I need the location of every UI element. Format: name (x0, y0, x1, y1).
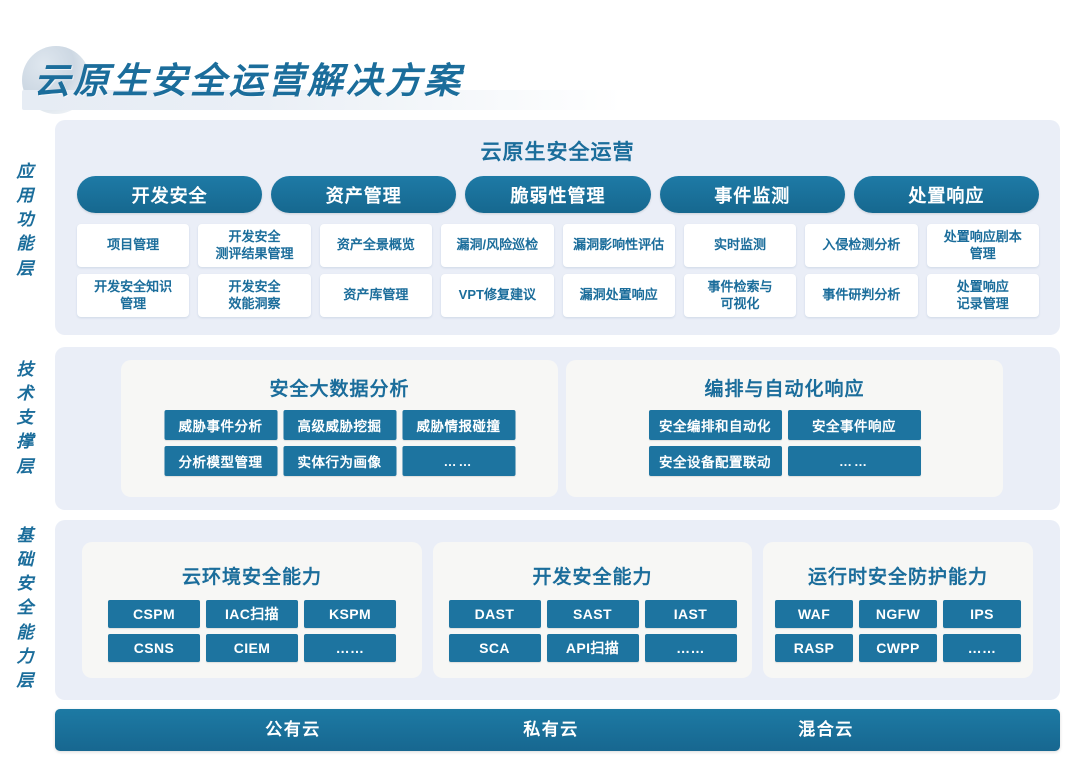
layer-label-char: 层 (8, 455, 42, 479)
application-card[interactable]: 漏洞/风险巡检 (441, 224, 553, 267)
technical-panel-orchestration: 编排与自动化响应 安全编排和自动化安全事件响应安全设备配置联动…… (566, 360, 1003, 497)
application-card[interactable]: 资产全景概览 (320, 224, 432, 267)
technical-chip-row: 安全设备配置联动…… (649, 446, 921, 476)
application-card-row: 项目管理开发安全测评结果管理资产全景概览漏洞/风险巡检漏洞影响性评估实时监测入侵… (77, 224, 1039, 267)
foundation-chip-row: RASPCWPP…… (775, 634, 1021, 662)
technical-chip-grid: 威胁事件分析高级威胁挖掘威胁情报碰撞分析模型管理实体行为画像…… (164, 410, 515, 482)
foundation-chip[interactable]: RASP (775, 634, 853, 662)
application-card[interactable]: 入侵检测分析 (805, 224, 917, 267)
foundation-chip-grid: WAFNGFWIPSRASPCWPP…… (775, 600, 1021, 668)
layer-label-char: 全 (8, 596, 42, 620)
foundation-chip[interactable]: DAST (449, 600, 541, 628)
technical-panel-heading: 编排与自动化响应 (566, 374, 1003, 401)
technical-chip[interactable]: 分析模型管理 (164, 446, 277, 476)
foundation-panel-dev-security: 开发安全能力 DASTSASTIASTSCAAPI扫描…… (433, 542, 752, 678)
foundation-chip-more[interactable]: …… (304, 634, 396, 662)
foundation-chip-row: DASTSASTIAST (449, 600, 737, 628)
layer-label-char: 技 (8, 358, 42, 382)
layer-label-application: 应用功能层 (8, 160, 42, 281)
layer-label-char: 应 (8, 160, 42, 184)
technical-chip[interactable]: 实体行为画像 (283, 446, 396, 476)
foundation-chip[interactable]: CIEM (206, 634, 298, 662)
foundation-chip[interactable]: CSNS (108, 634, 200, 662)
application-card[interactable]: 开发安全效能洞察 (198, 274, 310, 317)
application-card[interactable]: 开发安全测评结果管理 (198, 224, 310, 267)
technical-chip[interactable]: 安全设备配置联动 (649, 446, 782, 476)
application-card-row: 开发安全知识管理开发安全效能洞察资产库管理VPT修复建议漏洞处置响应事件检索与可… (77, 274, 1039, 317)
layer-label-foundation: 基础安全能力层 (8, 524, 42, 693)
technical-chip-row: 威胁事件分析高级威胁挖掘威胁情报碰撞 (164, 410, 515, 440)
foundation-panel-heading: 运行时安全防护能力 (763, 562, 1033, 589)
application-function-layer: 云原生安全运营 开发安全资产管理脆弱性管理事件监测处置响应 项目管理开发安全测评… (55, 120, 1060, 335)
layer-label-char: 础 (8, 548, 42, 572)
application-pill-1[interactable]: 开发安全 (77, 176, 262, 213)
cloud-type-public: 公有云 (213, 709, 373, 751)
application-card[interactable]: 事件研判分析 (805, 274, 917, 317)
application-card-grid: 项目管理开发安全测评结果管理资产全景概览漏洞/风险巡检漏洞影响性评估实时监测入侵… (77, 224, 1039, 324)
foundation-chip-row: SCAAPI扫描…… (449, 634, 737, 662)
application-card[interactable]: 实时监测 (684, 224, 796, 267)
application-pill-2[interactable]: 资产管理 (271, 176, 456, 213)
layer-label-char: 层 (8, 669, 42, 693)
layer-label-char: 用 (8, 184, 42, 208)
layer-label-char: 能 (8, 232, 42, 256)
foundation-chip[interactable]: SAST (547, 600, 639, 628)
foundation-panel-heading: 开发安全能力 (433, 562, 752, 589)
layer-label-char: 层 (8, 257, 42, 281)
foundation-chip-grid: DASTSASTIASTSCAAPI扫描…… (449, 600, 737, 668)
application-card[interactable]: 项目管理 (77, 224, 189, 267)
application-card[interactable]: 处置响应剧本管理 (927, 224, 1039, 267)
foundation-chip[interactable]: API扫描 (547, 634, 639, 662)
technical-panel-big-data: 安全大数据分析 威胁事件分析高级威胁挖掘威胁情报碰撞分析模型管理实体行为画像…… (121, 360, 558, 497)
foundation-chip[interactable]: KSPM (304, 600, 396, 628)
technical-support-layer: 安全大数据分析 威胁事件分析高级威胁挖掘威胁情报碰撞分析模型管理实体行为画像……… (55, 347, 1060, 510)
technical-panel-heading: 安全大数据分析 (121, 374, 558, 401)
page-title: 云原生安全运营解决方案 (34, 52, 463, 104)
technical-chip-grid: 安全编排和自动化安全事件响应安全设备配置联动…… (649, 410, 921, 482)
application-card[interactable]: 漏洞处置响应 (563, 274, 675, 317)
technical-chip[interactable]: 安全编排和自动化 (649, 410, 782, 440)
application-pill-row: 开发安全资产管理脆弱性管理事件监测处置响应 (77, 176, 1039, 213)
foundation-chip[interactable]: IPS (943, 600, 1021, 628)
cloud-deployment-bar: 公有云 私有云 混合云 (55, 709, 1060, 751)
foundation-panel-heading: 云环境安全能力 (82, 562, 422, 589)
technical-chip[interactable]: 安全事件响应 (788, 410, 921, 440)
layer-label-char: 功 (8, 208, 42, 232)
technical-chip-row: 分析模型管理实体行为画像…… (164, 446, 515, 476)
application-card[interactable]: VPT修复建议 (441, 274, 553, 317)
application-layer-heading: 云原生安全运营 (55, 136, 1060, 166)
foundation-panel-cloud-env: 云环境安全能力 CSPMIAC扫描KSPMCSNSCIEM…… (82, 542, 422, 678)
layer-label-char: 基 (8, 524, 42, 548)
page-title-block: 云原生安全运营解决方案 (0, 22, 1080, 102)
foundation-chip-more[interactable]: …… (645, 634, 737, 662)
application-pill-5[interactable]: 处置响应 (854, 176, 1039, 213)
technical-chip-more[interactable]: …… (788, 446, 921, 476)
foundation-chip[interactable]: CSPM (108, 600, 200, 628)
layer-label-char: 安 (8, 572, 42, 596)
application-pill-3[interactable]: 脆弱性管理 (465, 176, 650, 213)
foundation-chip-row: CSPMIAC扫描KSPM (108, 600, 396, 628)
application-pill-4[interactable]: 事件监测 (660, 176, 845, 213)
foundation-chip-row: WAFNGFWIPS (775, 600, 1021, 628)
layer-label-char: 支 (8, 406, 42, 430)
foundation-chip[interactable]: IAC扫描 (206, 600, 298, 628)
foundation-chip[interactable]: CWPP (859, 634, 937, 662)
layer-label-char: 能 (8, 621, 42, 645)
technical-chip[interactable]: 高级威胁挖掘 (283, 410, 396, 440)
technical-chip[interactable]: 威胁事件分析 (164, 410, 277, 440)
application-card[interactable]: 处置响应记录管理 (927, 274, 1039, 317)
layer-label-technical: 技术支撑层 (8, 358, 42, 479)
layer-label-char: 力 (8, 645, 42, 669)
foundation-capability-layer: 云环境安全能力 CSPMIAC扫描KSPMCSNSCIEM…… 开发安全能力 D… (55, 520, 1060, 700)
technical-chip[interactable]: 威胁情报碰撞 (402, 410, 515, 440)
layer-label-char: 术 (8, 382, 42, 406)
application-card[interactable]: 开发安全知识管理 (77, 274, 189, 317)
foundation-panel-runtime-protection: 运行时安全防护能力 WAFNGFWIPSRASPCWPP…… (763, 542, 1033, 678)
foundation-chip[interactable]: SCA (449, 634, 541, 662)
foundation-chip[interactable]: NGFW (859, 600, 937, 628)
foundation-chip-row: CSNSCIEM…… (108, 634, 396, 662)
foundation-chip[interactable]: WAF (775, 600, 853, 628)
application-card[interactable]: 漏洞影响性评估 (563, 224, 675, 267)
application-card[interactable]: 事件检索与可视化 (684, 274, 796, 317)
cloud-type-hybrid: 混合云 (746, 709, 906, 751)
layer-label-char: 撑 (8, 430, 42, 454)
foundation-chip-more[interactable]: …… (943, 634, 1021, 662)
foundation-chip-grid: CSPMIAC扫描KSPMCSNSCIEM…… (108, 600, 396, 668)
technical-chip-row: 安全编排和自动化安全事件响应 (649, 410, 921, 440)
foundation-chip[interactable]: IAST (645, 600, 737, 628)
application-card[interactable]: 资产库管理 (320, 274, 432, 317)
cloud-type-private: 私有云 (471, 709, 631, 751)
technical-chip-more[interactable]: …… (402, 446, 515, 476)
